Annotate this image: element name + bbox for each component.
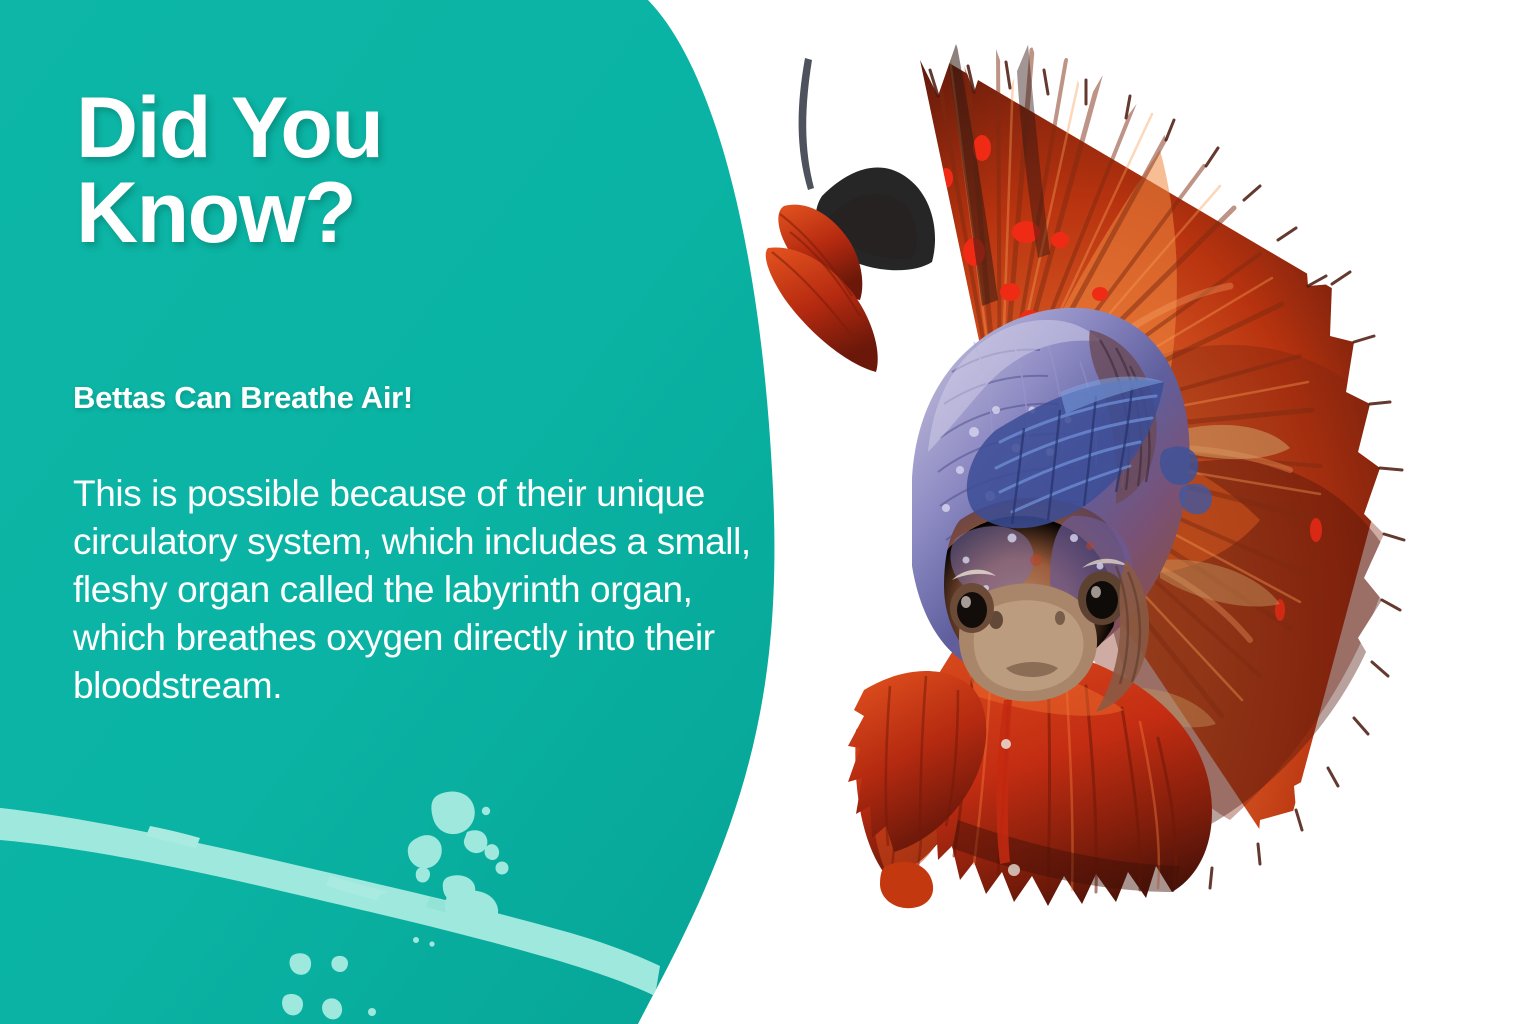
page-title: Did You Know? — [76, 86, 696, 256]
text-content: Did You Know? Bettas Can Breathe Air! Th… — [0, 0, 760, 1024]
subheading: Bettas Can Breathe Air! — [73, 380, 713, 416]
poster-canvas: Did You Know? Bettas Can Breathe Air! Th… — [0, 0, 1536, 1024]
betta-fish-image — [760, 0, 1536, 1024]
ventral-filament — [799, 58, 814, 190]
body-paragraph: This is possible because of their unique… — [73, 470, 753, 710]
